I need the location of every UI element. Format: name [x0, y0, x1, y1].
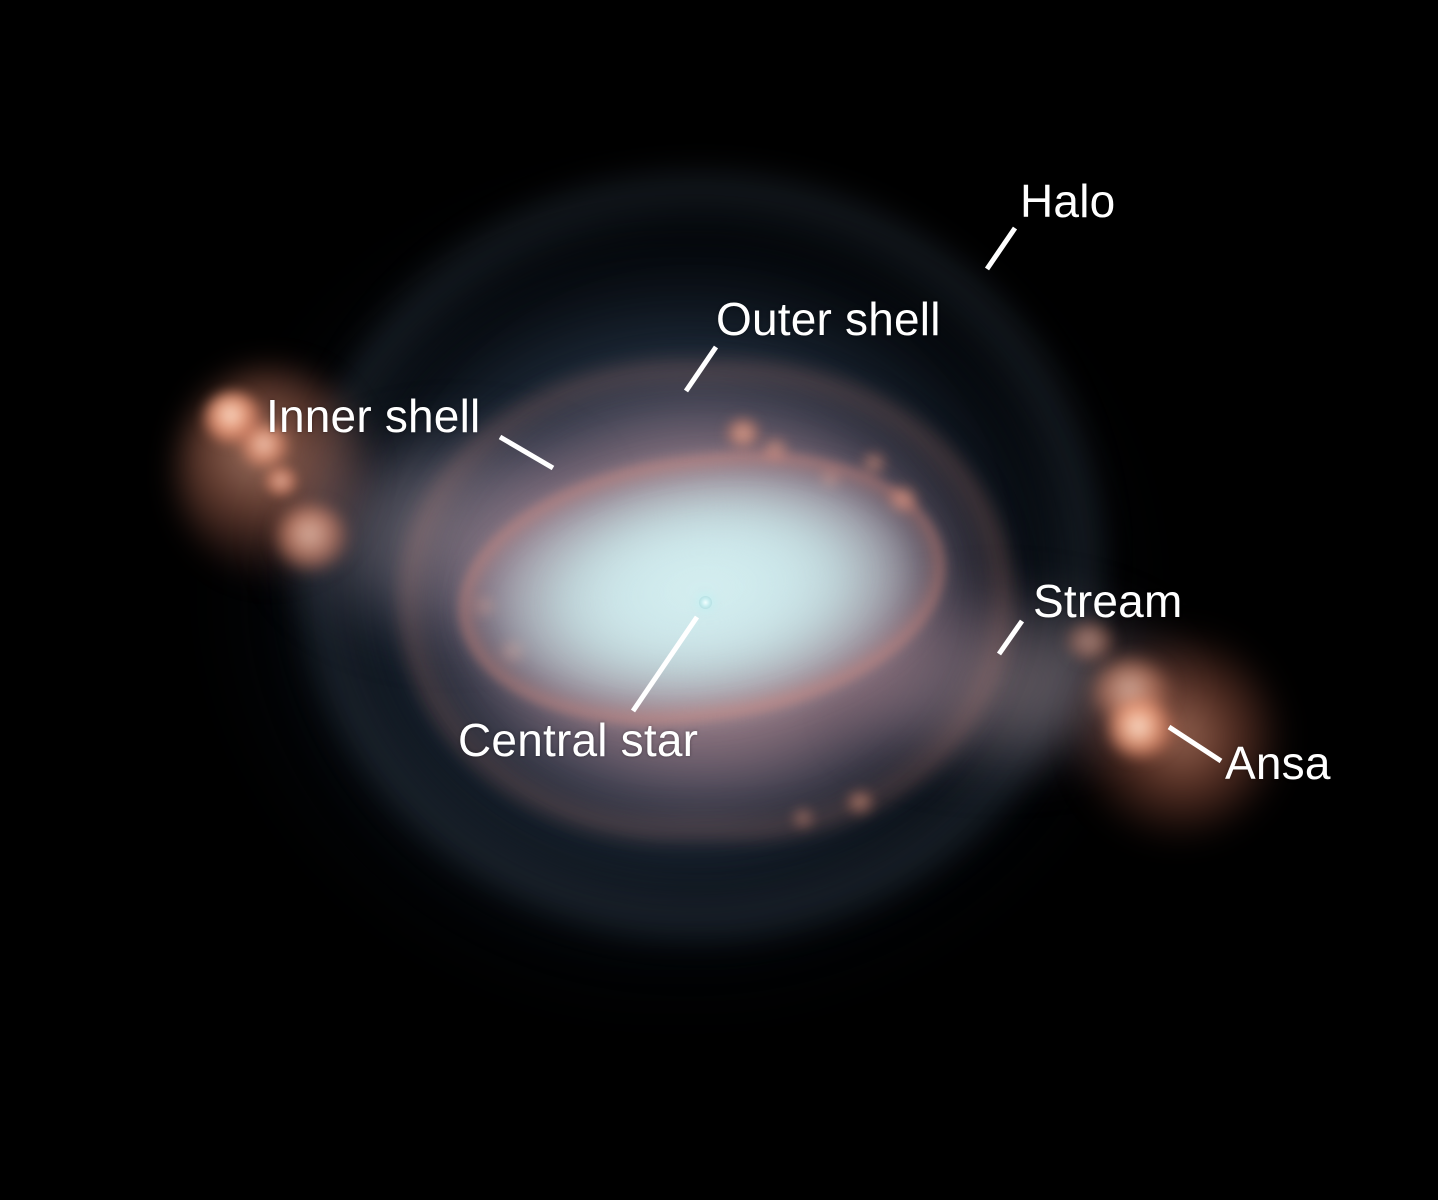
leader-line-inner-shell [500, 437, 553, 468]
leader-line-central-star [633, 617, 697, 711]
leader-line-halo [987, 228, 1015, 269]
annotation-label-stream: Stream [1033, 578, 1182, 624]
annotation-label-halo: Halo [1020, 178, 1115, 224]
annotation-label-ansa: Ansa [1225, 740, 1331, 786]
leader-line-stream [999, 621, 1022, 654]
annotation-label-outer-shell: Outer shell [716, 296, 941, 342]
annotation-overlay: HaloOuter shellInner shellStreamAnsaCent… [0, 0, 1438, 1200]
leader-line-ansa [1169, 727, 1221, 761]
annotation-label-central-star: Central star [458, 717, 698, 763]
leader-lines-group [0, 0, 1438, 1200]
leader-line-outer-shell [686, 347, 716, 391]
annotation-label-inner-shell: Inner shell [266, 393, 480, 439]
nebula-image: HaloOuter shellInner shellStreamAnsaCent… [0, 0, 1438, 1200]
